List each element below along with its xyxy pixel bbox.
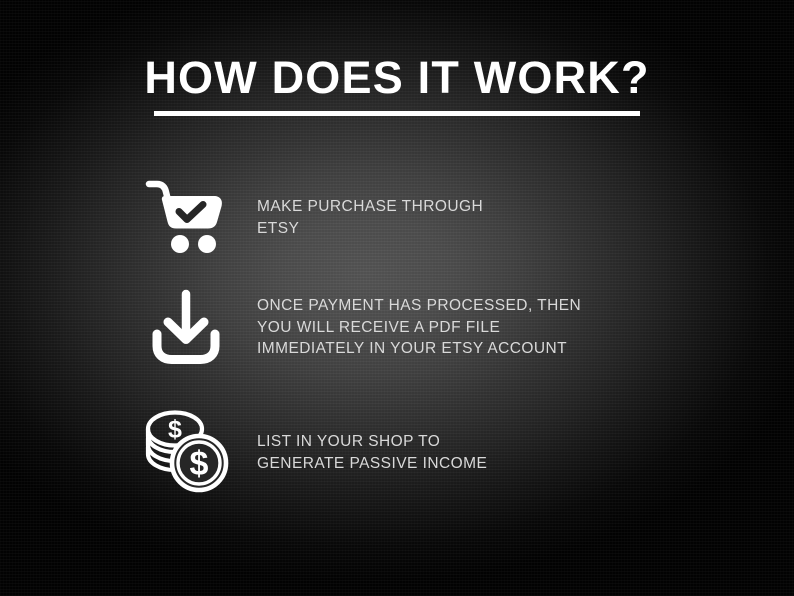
- step-2-icon-wrapper: [140, 288, 232, 366]
- step-1-text: MAKE PURCHASE THROUGH ETSY: [257, 194, 483, 239]
- step-row-2: ONCE PAYMENT HAS PROCESSED, THEN YOU WIL…: [140, 288, 581, 366]
- step-row-3: $ $ LIST IN YOUR SHOP TO GENERATE PASSIV…: [140, 408, 487, 494]
- step-row-1: MAKE PURCHASE THROUGH ETSY: [140, 178, 483, 254]
- download-icon: [148, 288, 224, 366]
- step-1-icon-wrapper: [140, 178, 232, 254]
- coins-stack-dollar-icon: $ $: [141, 408, 231, 494]
- step-3-text: LIST IN YOUR SHOP TO GENERATE PASSIVE IN…: [257, 429, 487, 474]
- svg-text:$: $: [168, 416, 182, 444]
- page-title: HOW DOES IT WORK?: [144, 55, 649, 100]
- how-does-it-work-graphic: HOW DOES IT WORK? MAKE PURCHASE THROUGH …: [0, 0, 794, 596]
- title-underline: [154, 111, 640, 116]
- step-2-text: ONCE PAYMENT HAS PROCESSED, THEN YOU WIL…: [257, 293, 581, 360]
- title-block: HOW DOES IT WORK?: [0, 55, 794, 116]
- svg-text:$: $: [190, 445, 209, 483]
- shopping-cart-check-icon: [143, 178, 229, 254]
- step-3-icon-wrapper: $ $: [140, 408, 232, 494]
